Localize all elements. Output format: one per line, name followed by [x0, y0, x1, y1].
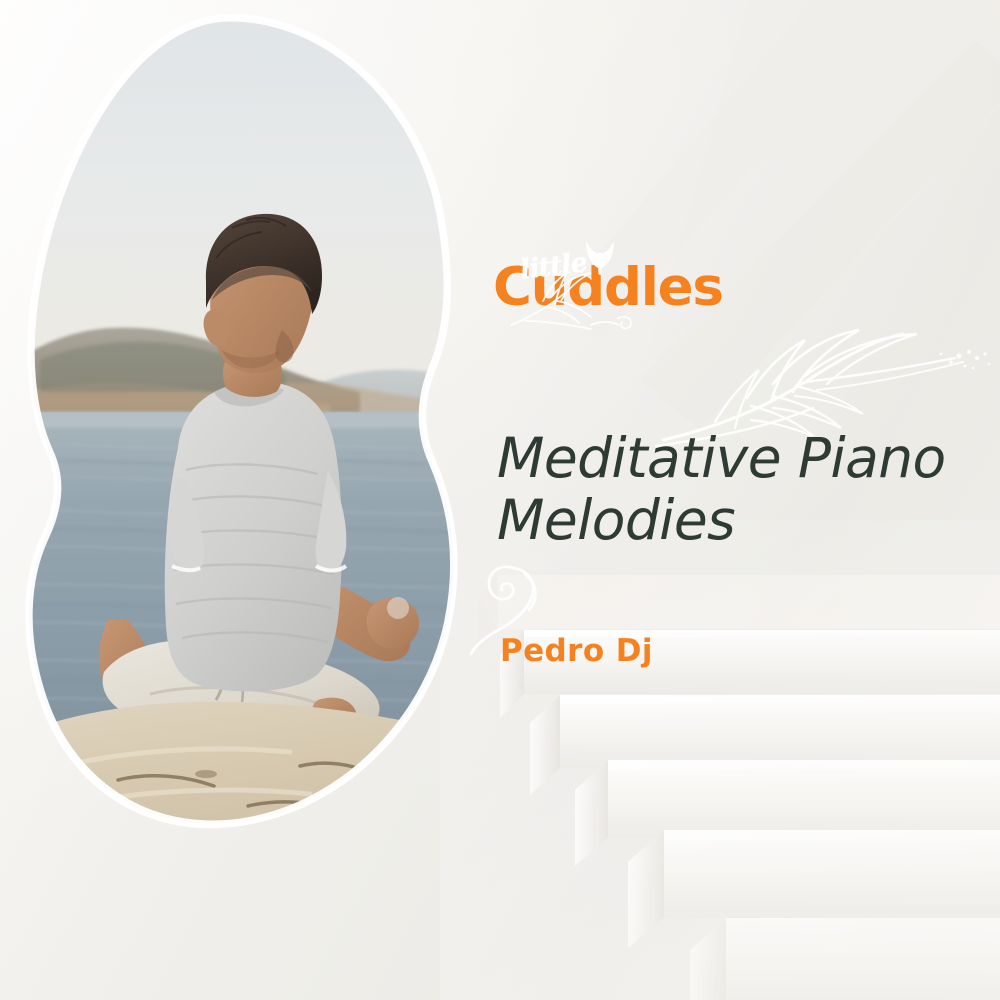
- album-title: Meditative Piano Melodies: [497, 428, 967, 551]
- cover-photo: [0, 0, 520, 960]
- cover-photo-image: [0, 0, 520, 960]
- artist-name: Pedro Dj: [500, 633, 653, 669]
- album-cover: Cuddles little Meditative Piano Melodies…: [0, 0, 1000, 1000]
- brand-logo[interactable]: Cuddles little: [493, 243, 713, 315]
- wheat-sprig-icon: [505, 267, 645, 333]
